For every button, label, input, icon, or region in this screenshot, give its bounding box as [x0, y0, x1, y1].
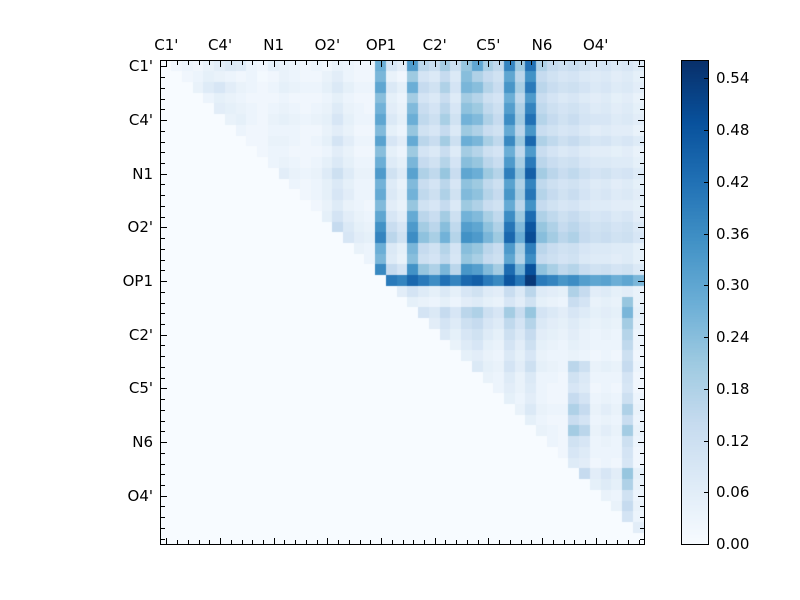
y-tick-left	[160, 496, 167, 497]
y-tick-right	[638, 66, 645, 67]
x-tick-top	[606, 60, 607, 65]
y-tick-left	[160, 142, 165, 143]
y-tick-left	[160, 184, 165, 185]
x-tick-top	[327, 60, 328, 67]
x-tick-bottom	[499, 540, 500, 545]
y-tick-right	[638, 335, 645, 336]
heatmap-axes: C1'C4'N1O2'OP1C2'C5'N6O4' C1'C4'N1O2'OP1…	[160, 60, 645, 545]
x-tick-top	[177, 60, 178, 65]
y-tick-left	[160, 506, 165, 507]
y-tick-right	[640, 517, 645, 518]
x-tick-bottom	[488, 538, 489, 545]
y-tick-right	[638, 388, 645, 389]
colorbar-tick-label: 0.54	[716, 69, 749, 87]
x-tick-top	[628, 60, 629, 65]
x-tick-top	[284, 60, 285, 65]
colorbar-tick-label: 0.48	[716, 121, 749, 139]
x-tick-top	[209, 60, 210, 65]
y-tick-left	[160, 238, 165, 239]
y-tick-right	[640, 464, 645, 465]
y-tick-left	[160, 109, 165, 110]
y-tick-right	[640, 506, 645, 507]
y-tick-right	[640, 206, 645, 207]
y-tick-left	[160, 378, 165, 379]
y-tick-left	[160, 163, 165, 164]
x-tick-bottom	[252, 540, 253, 545]
x-tick-top	[488, 60, 489, 67]
y-tick-right	[640, 528, 645, 529]
y-tick-label: C5'	[129, 379, 153, 397]
y-tick-label: C4'	[129, 111, 153, 129]
y-tick-right	[640, 399, 645, 400]
y-tick-left	[160, 217, 165, 218]
y-tick-label: OP1	[123, 272, 153, 290]
y-tick-left	[160, 206, 165, 207]
x-tick-bottom	[531, 540, 532, 545]
y-tick-label: C1'	[129, 57, 153, 75]
y-tick-label: N1	[132, 165, 153, 183]
y-tick-left	[160, 485, 165, 486]
colorbar-tick-label: 0.30	[716, 276, 749, 294]
x-tick-label: O4'	[583, 36, 608, 54]
x-tick-top	[295, 60, 296, 65]
x-tick-bottom	[510, 540, 511, 545]
x-tick-top	[639, 60, 640, 65]
x-tick-top	[445, 60, 446, 65]
x-tick-bottom	[606, 540, 607, 545]
y-tick-left	[160, 528, 165, 529]
y-tick-left	[160, 539, 165, 540]
x-tick-top	[274, 60, 275, 67]
y-tick-right	[640, 421, 645, 422]
y-tick-left	[160, 270, 165, 271]
colorbar-tick	[704, 130, 709, 131]
x-tick-top	[403, 60, 404, 65]
x-tick-bottom	[220, 538, 221, 545]
y-tick-right	[640, 324, 645, 325]
x-tick-label: C5'	[476, 36, 500, 54]
y-tick-right	[640, 453, 645, 454]
y-tick-left	[160, 335, 167, 336]
y-tick-left	[160, 174, 167, 175]
x-tick-bottom	[370, 540, 371, 545]
y-tick-left	[160, 421, 165, 422]
x-tick-label: N6	[532, 36, 553, 54]
colorbar-tick	[704, 285, 709, 286]
x-tick-top	[360, 60, 361, 65]
x-tick-top	[349, 60, 350, 65]
y-tick-left	[160, 399, 165, 400]
colorbar-tick	[704, 492, 709, 493]
y-tick-left	[160, 474, 165, 475]
y-tick-left	[160, 227, 167, 228]
x-tick-bottom	[263, 540, 264, 545]
x-tick-bottom	[295, 540, 296, 545]
x-tick-bottom	[445, 540, 446, 545]
x-tick-bottom	[199, 540, 200, 545]
y-tick-right	[640, 313, 645, 314]
y-tick-right	[640, 77, 645, 78]
y-tick-left	[160, 431, 165, 432]
x-tick-top	[242, 60, 243, 65]
x-tick-bottom	[553, 540, 554, 545]
x-tick-top	[510, 60, 511, 65]
y-tick-left	[160, 249, 165, 250]
y-tick-right	[640, 410, 645, 411]
x-tick-bottom	[381, 538, 382, 545]
y-tick-left	[160, 345, 165, 346]
x-tick-top	[263, 60, 264, 65]
y-tick-left	[160, 99, 165, 100]
x-tick-top	[564, 60, 565, 65]
x-tick-label: O2'	[315, 36, 340, 54]
y-tick-left	[160, 356, 165, 357]
y-tick-right	[638, 281, 645, 282]
x-tick-bottom	[327, 538, 328, 545]
y-tick-right	[638, 442, 645, 443]
x-tick-bottom	[306, 540, 307, 545]
y-tick-right	[640, 378, 645, 379]
y-tick-left	[160, 292, 165, 293]
y-tick-right	[640, 99, 645, 100]
x-tick-bottom	[403, 540, 404, 545]
x-tick-bottom	[338, 540, 339, 545]
colorbar-tick-label: 0.42	[716, 173, 749, 191]
x-tick-top	[467, 60, 468, 65]
x-tick-bottom	[274, 538, 275, 545]
x-tick-bottom	[467, 540, 468, 545]
colorbar-tick-label: 0.06	[716, 483, 749, 501]
y-tick-right	[640, 249, 645, 250]
colorbar-tick-label: 0.24	[716, 328, 749, 346]
x-tick-label: C2'	[423, 36, 447, 54]
x-tick-top	[478, 60, 479, 65]
y-tick-left	[160, 77, 165, 78]
x-tick-bottom	[166, 538, 167, 545]
colorbar-tick-label: 0.12	[716, 432, 749, 450]
y-tick-left	[160, 66, 167, 67]
y-tick-left	[160, 195, 165, 196]
x-tick-bottom	[628, 540, 629, 545]
y-tick-right	[640, 356, 645, 357]
colorbar-tick	[704, 441, 709, 442]
x-tick-bottom	[392, 540, 393, 545]
y-tick-right	[638, 496, 645, 497]
y-tick-left	[160, 367, 165, 368]
x-tick-label: C4'	[208, 36, 232, 54]
y-tick-right	[638, 227, 645, 228]
x-tick-bottom	[574, 540, 575, 545]
y-tick-right	[640, 260, 645, 261]
x-tick-top	[252, 60, 253, 65]
x-tick-top	[585, 60, 586, 65]
x-tick-top	[381, 60, 382, 67]
x-tick-bottom	[585, 540, 586, 545]
y-tick-label: O4'	[128, 487, 153, 505]
y-tick-right	[640, 367, 645, 368]
x-tick-bottom	[209, 540, 210, 545]
x-tick-top	[542, 60, 543, 67]
y-tick-right	[640, 474, 645, 475]
colorbar-tick	[704, 337, 709, 338]
x-tick-bottom	[424, 540, 425, 545]
x-tick-bottom	[478, 540, 479, 545]
x-tick-label: N1	[263, 36, 284, 54]
y-tick-right	[640, 270, 645, 271]
x-tick-top	[531, 60, 532, 65]
x-tick-top	[521, 60, 522, 65]
y-tick-right	[640, 184, 645, 185]
y-tick-left	[160, 464, 165, 465]
figure-canvas: C1'C4'N1O2'OP1C2'C5'N6O4' C1'C4'N1O2'OP1…	[0, 0, 800, 600]
y-tick-left	[160, 88, 165, 89]
y-tick-right	[640, 88, 645, 89]
x-tick-top	[456, 60, 457, 65]
x-tick-top	[574, 60, 575, 65]
x-tick-top	[435, 60, 436, 67]
y-tick-left	[160, 131, 165, 132]
y-tick-right	[640, 163, 645, 164]
x-tick-bottom	[456, 540, 457, 545]
colorbar-tick	[704, 182, 709, 183]
x-tick-bottom	[413, 540, 414, 545]
x-tick-bottom	[435, 538, 436, 545]
x-tick-top	[413, 60, 414, 65]
y-tick-right	[640, 131, 645, 132]
y-tick-left	[160, 442, 167, 443]
x-tick-bottom	[188, 540, 189, 545]
y-tick-right	[640, 303, 645, 304]
y-tick-left	[160, 120, 167, 121]
x-tick-top	[306, 60, 307, 65]
y-tick-right	[638, 120, 645, 121]
x-tick-top	[596, 60, 597, 67]
colorbar-tick	[704, 78, 709, 79]
x-tick-bottom	[542, 538, 543, 545]
y-tick-right	[640, 217, 645, 218]
x-tick-bottom	[242, 540, 243, 545]
colorbar-tick	[704, 234, 709, 235]
y-tick-label: N6	[132, 433, 153, 451]
x-tick-top	[231, 60, 232, 65]
y-tick-left	[160, 388, 167, 389]
colorbar-tick-label: 0.36	[716, 225, 749, 243]
y-tick-left	[160, 281, 167, 282]
x-tick-bottom	[521, 540, 522, 545]
y-tick-left	[160, 303, 165, 304]
y-tick-right	[640, 345, 645, 346]
colorbar-gradient	[682, 61, 708, 544]
colorbar-axes: 0.000.060.120.180.240.300.360.420.480.54	[681, 60, 709, 545]
x-tick-top	[553, 60, 554, 65]
colorbar-tick	[704, 544, 709, 545]
y-tick-label: C2'	[129, 326, 153, 344]
x-tick-top	[338, 60, 339, 65]
y-tick-right	[640, 109, 645, 110]
x-tick-top	[499, 60, 500, 65]
y-tick-right	[640, 238, 645, 239]
y-tick-right	[640, 539, 645, 540]
y-tick-right	[638, 174, 645, 175]
y-tick-right	[640, 195, 645, 196]
x-tick-bottom	[617, 540, 618, 545]
x-tick-bottom	[596, 538, 597, 545]
x-tick-top	[220, 60, 221, 67]
x-tick-bottom	[177, 540, 178, 545]
x-tick-bottom	[564, 540, 565, 545]
y-tick-right	[640, 142, 645, 143]
y-tick-left	[160, 517, 165, 518]
x-tick-label: OP1	[366, 36, 396, 54]
y-tick-left	[160, 152, 165, 153]
x-tick-top	[424, 60, 425, 65]
y-tick-right	[640, 152, 645, 153]
x-tick-top	[370, 60, 371, 65]
colorbar-tick-label: 0.18	[716, 380, 749, 398]
x-tick-top	[199, 60, 200, 65]
x-tick-top	[317, 60, 318, 65]
y-tick-left	[160, 453, 165, 454]
x-tick-bottom	[284, 540, 285, 545]
x-tick-bottom	[360, 540, 361, 545]
x-tick-top	[617, 60, 618, 65]
x-tick-top	[392, 60, 393, 65]
y-tick-label: O2'	[128, 218, 153, 236]
y-tick-right	[640, 431, 645, 432]
x-tick-bottom	[639, 540, 640, 545]
colorbar-tick-label: 0.00	[716, 535, 749, 553]
y-tick-right	[640, 292, 645, 293]
x-tick-top	[188, 60, 189, 65]
y-tick-left	[160, 410, 165, 411]
y-tick-right	[640, 485, 645, 486]
y-tick-left	[160, 324, 165, 325]
colorbar-tick	[704, 389, 709, 390]
y-tick-left	[160, 313, 165, 314]
x-tick-bottom	[349, 540, 350, 545]
y-tick-left	[160, 260, 165, 261]
x-tick-label: C1'	[154, 36, 178, 54]
x-tick-bottom	[317, 540, 318, 545]
x-tick-bottom	[231, 540, 232, 545]
heatmap-image	[161, 61, 644, 544]
